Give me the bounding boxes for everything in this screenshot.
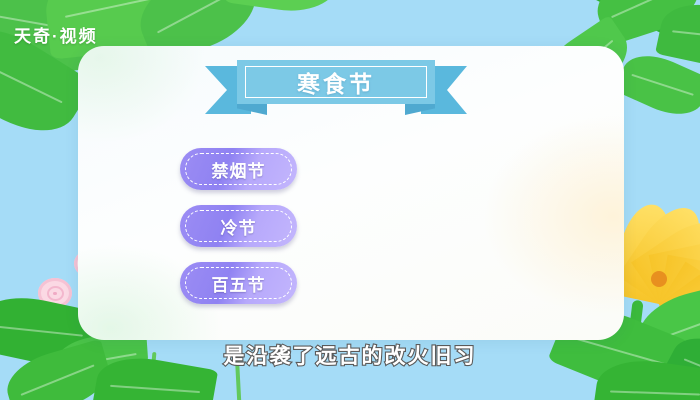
video-frame: 寒食节 禁烟节 冷节 百五节 天奇·视频 是沿袭了远古的改火旧习: [0, 0, 700, 400]
alias-pill-2[interactable]: 冷节: [180, 205, 297, 247]
rose-icon: [38, 278, 72, 308]
leaf-icon: [655, 0, 700, 73]
ribbon-band: 寒食节: [237, 60, 435, 104]
title-ribbon: 寒食节: [205, 60, 467, 122]
leaf-icon: [589, 0, 700, 47]
leaf-icon: [614, 45, 700, 126]
alias-pill-label: 冷节: [221, 214, 257, 239]
alias-list: 禁烟节 冷节 百五节: [180, 148, 297, 304]
alias-pill-3[interactable]: 百五节: [180, 262, 297, 304]
alias-pill-label: 百五节: [212, 271, 266, 296]
alias-pill-1[interactable]: 禁烟节: [180, 148, 297, 190]
alias-pill-label: 禁烟节: [212, 157, 266, 182]
subtitle-text: 是沿袭了远古的改火旧习: [0, 340, 700, 370]
watermark-logo: 天奇·视频: [14, 22, 98, 47]
page-title: 寒食节: [237, 60, 435, 104]
leaf-icon: [224, 0, 342, 17]
